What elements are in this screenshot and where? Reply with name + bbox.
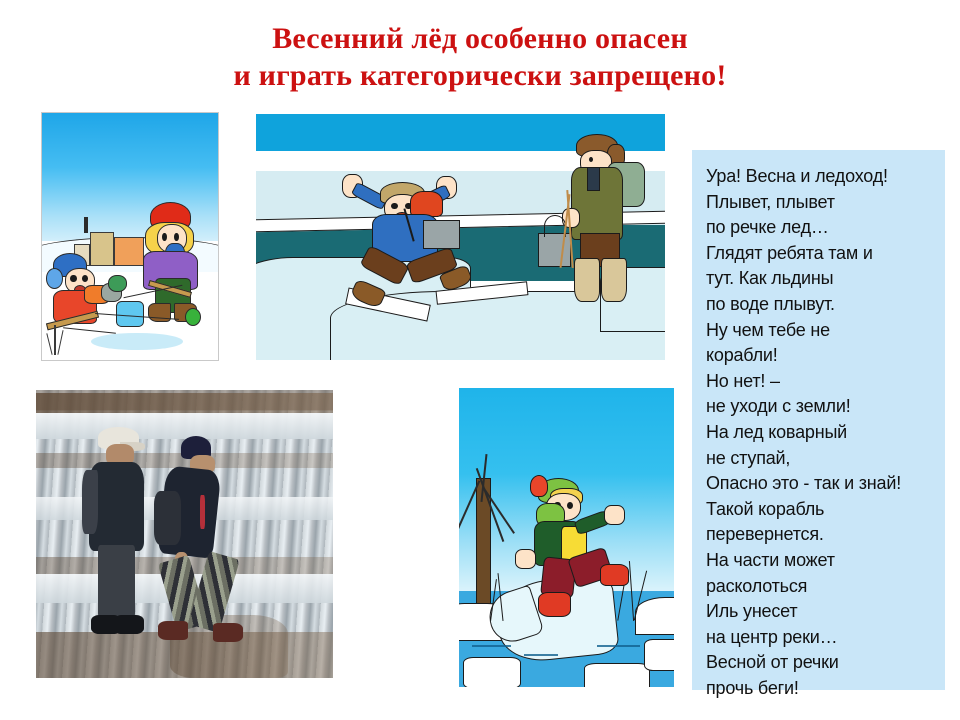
hand-right: [604, 505, 625, 526]
water-wave: [524, 654, 558, 656]
ice-chunk-right-edge: [644, 639, 674, 671]
snow-ridge: [36, 413, 333, 439]
tackle-box: [538, 233, 571, 267]
red-boot-back: [600, 564, 629, 586]
shoe-back: [213, 623, 243, 642]
felt-boot-right: [601, 258, 626, 303]
poem-line: корабли!: [706, 343, 937, 369]
poem-line: На лед коварный: [706, 420, 937, 446]
box-handle: [544, 215, 566, 237]
boot-front: [349, 278, 387, 310]
green-ball: [185, 308, 201, 326]
poem-line: Ну чем тебе не: [706, 318, 937, 344]
shoe-front: [158, 621, 188, 640]
eye-left: [391, 203, 397, 209]
poem-line: по речке лед…: [706, 215, 937, 241]
poem-line: Такой корабль: [706, 497, 937, 523]
fisherman-standing: [555, 134, 645, 311]
felt-boot-left: [574, 258, 599, 303]
poem-line: не ступай,: [706, 446, 937, 472]
boy-jumping: [342, 168, 469, 321]
child-balancing: [524, 475, 627, 619]
poem-line: прочь беги!: [706, 676, 937, 702]
poem-line: Но нет! –: [706, 369, 937, 395]
boot-right: [116, 615, 143, 634]
poem-line: Опасно это - так и знай!: [706, 471, 937, 497]
poem-line: Глядят ребята там и: [706, 241, 937, 267]
ice-chunk-bottom-left: [463, 657, 521, 687]
poem-line: по воде плывут.: [706, 292, 937, 318]
poem-line: тут. Как льдины: [706, 266, 937, 292]
page-title: Весенний лёд особенно опасен и играть ка…: [0, 20, 960, 94]
poem-line: Плывет, плывет: [706, 190, 937, 216]
dry-grass: [54, 325, 55, 355]
poem-line: На части может: [706, 548, 937, 574]
red-boot-front: [538, 592, 571, 617]
chimney: [84, 217, 88, 233]
image-child-on-ice-floe-cartoon: [459, 388, 674, 687]
water-wave: [597, 645, 640, 647]
eye-left: [70, 275, 77, 283]
eye-right: [174, 233, 179, 242]
wet-brown-band: [36, 393, 333, 413]
poem-line: Иль унесет: [706, 599, 937, 625]
water-wave: [472, 645, 511, 647]
red-stripe: [200, 495, 206, 529]
dark-scarf: [587, 167, 600, 190]
poem-line: Весной от речки: [706, 650, 937, 676]
poem-line: расколоться: [706, 574, 937, 600]
poem-line: Ура! Весна и ледоход!: [706, 164, 937, 190]
backpack-strap: [82, 470, 98, 534]
image-teenagers-walking-melting-ice-photo: [36, 390, 333, 678]
image-boy-jumping-ice-crack-cartoon: [256, 114, 665, 360]
hand-left: [515, 549, 536, 568]
poster-canvas: Весенний лёд особенно опасен и играть ка…: [0, 0, 960, 720]
title-line-1: Весенний лёд особенно опасен: [0, 20, 960, 57]
backpack: [154, 491, 181, 546]
poem-line: на центр реки…: [706, 625, 937, 651]
teen-with-dark-beanie: [158, 436, 253, 646]
title-line-2: и играть категорически запрещено!: [0, 57, 960, 94]
green-mitten: [108, 275, 127, 292]
poem-line: не уходи с земли!: [706, 394, 937, 420]
snow-bank-right: [635, 597, 674, 635]
poem-line: перевернется.: [706, 522, 937, 548]
boot-left: [91, 615, 118, 634]
image-kids-on-cracking-ice-cartoon: [41, 112, 219, 361]
child-in-purple-standing: [137, 202, 207, 326]
tackle-box: [423, 220, 460, 249]
trousers: [98, 545, 135, 622]
hat-pompom-red: [530, 475, 549, 497]
hat-pompom: [46, 268, 63, 288]
poem-panel: Ура! Весна и ледоход! Плывет, плывет по …: [692, 150, 945, 690]
ice-haze: [91, 333, 183, 350]
poem-text: Ура! Весна и ледоход! Плывет, плывет по …: [692, 150, 945, 711]
ice-chunk-bottom-right: [584, 663, 651, 687]
teen-with-white-cap: [86, 427, 148, 640]
